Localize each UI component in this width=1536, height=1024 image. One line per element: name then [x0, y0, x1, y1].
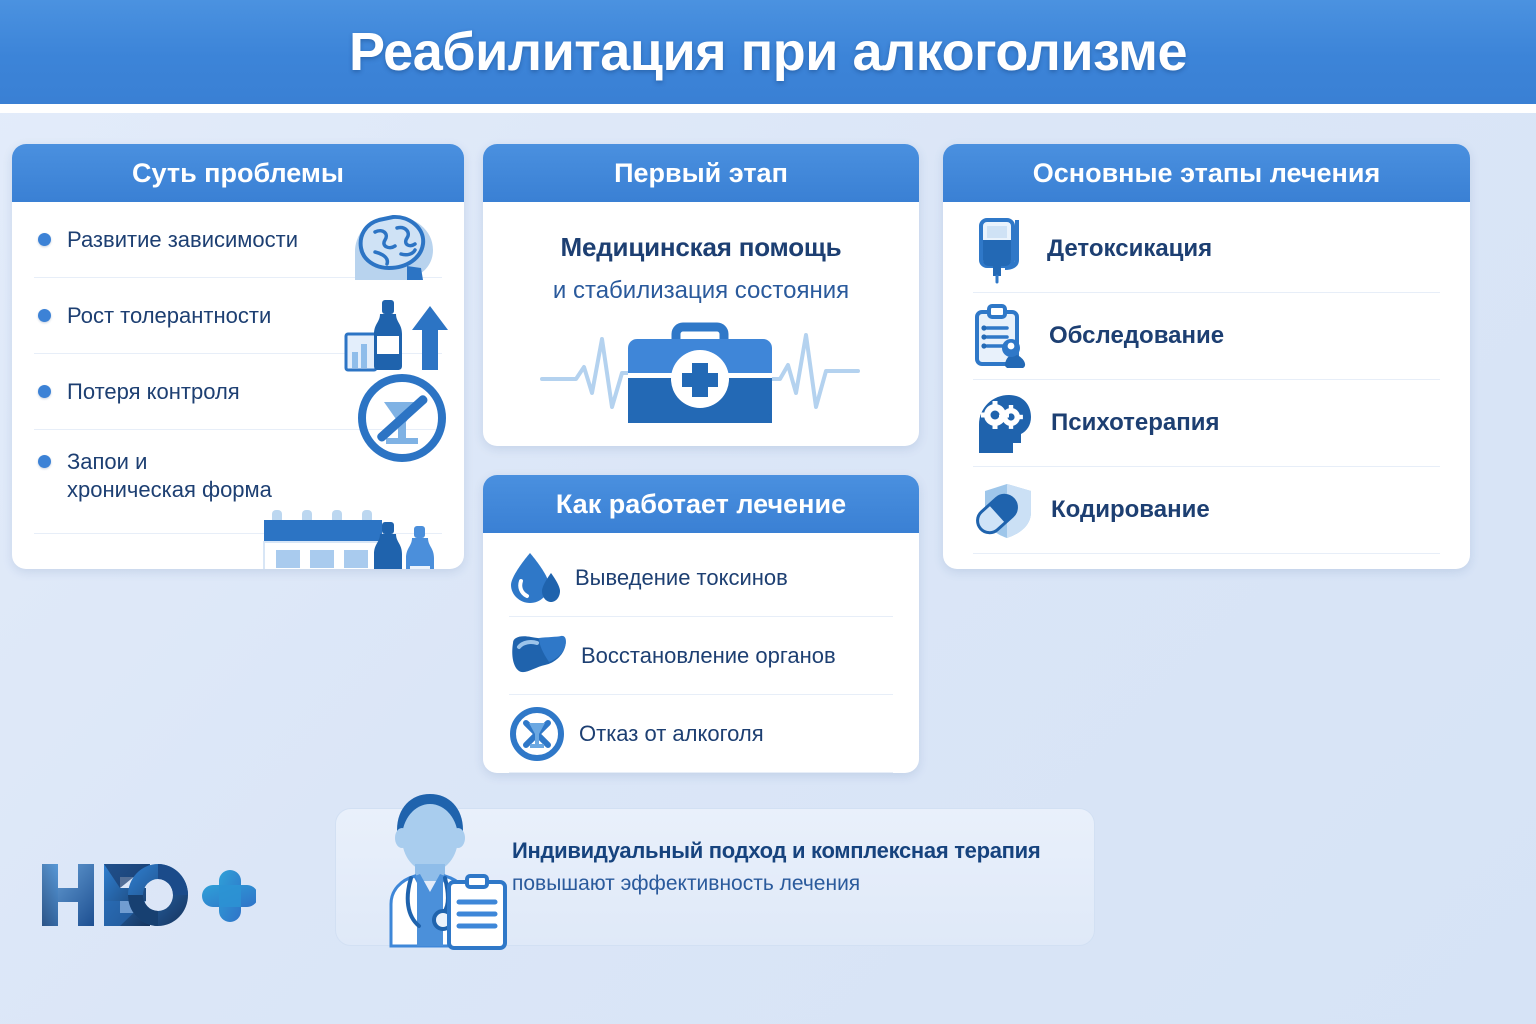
card-first-stage-body: Медицинская помощь и стабилизация состоя…: [483, 232, 919, 429]
stage-label-2: Обследование: [1049, 322, 1224, 350]
doctor-clipboard-icon: [345, 786, 515, 951]
no-alcohol-glass-icon: [356, 372, 448, 464]
header-divider: [0, 104, 1536, 113]
card-problem-title: Суть проблемы: [12, 144, 464, 202]
list-item[interactable]: Восстановление органов: [509, 617, 893, 695]
clipboard-checkup-icon: [973, 304, 1031, 368]
first-stage-line2: и стабилизация состояния: [483, 277, 919, 305]
how-label-1: Выведение токсинов: [575, 565, 788, 591]
card-first-stage: Первый этап Медицинская помощь и стабили…: [483, 144, 919, 446]
first-stage-icon-wrap: [483, 321, 919, 429]
card-how-it-works-title: Как работает лечение: [483, 475, 919, 533]
stage-label-4: Кодирование: [1051, 496, 1210, 524]
card-main-stages-body: Детоксикация Обследование: [943, 202, 1470, 554]
bullet-icon: [38, 385, 51, 398]
how-label-3: Отказ от алкоголя: [579, 721, 764, 747]
first-aid-kit-ecg-icon: [536, 321, 866, 429]
no-alcohol-icon: [509, 706, 565, 762]
header-banner: Реабилитация при алкоголизме: [0, 0, 1536, 104]
stage-label-3: Психотерапия: [1051, 409, 1220, 437]
problem-label-3: Потеря контроля: [67, 378, 240, 406]
brain-head-icon: [345, 210, 449, 282]
card-main-stages: Основные этапы лечения Детоксикация: [943, 144, 1470, 569]
note-line2: повышают эффективность лечения: [512, 872, 1072, 896]
head-gears-icon: [973, 391, 1033, 455]
bullet-icon: [38, 309, 51, 322]
problem-label-1: Развитие зависимости: [67, 226, 298, 254]
card-how-it-works-body: Выведение токсинов Восстановление органо…: [483, 533, 919, 773]
iv-drip-icon: [973, 214, 1029, 284]
card-problem-essence: Суть проблемы Развитие зависимости Рост …: [12, 144, 464, 569]
neo-plus-logo: [36, 856, 256, 934]
liver-icon: [509, 633, 567, 679]
stage-label-1: Детоксикация: [1047, 235, 1212, 263]
card-first-stage-title: Первый этап: [483, 144, 919, 202]
how-it-works-list: Выведение токсинов Восстановление органо…: [483, 533, 919, 773]
first-stage-line1: Медицинская помощь: [483, 232, 919, 263]
note-text: Индивидуальный подход и комплексная тера…: [512, 838, 1072, 896]
water-drop-icon: [509, 551, 561, 605]
how-label-2: Восстановление органов: [581, 643, 836, 669]
bullet-icon: [38, 455, 51, 468]
list-item[interactable]: Обследование: [973, 293, 1440, 380]
card-problem-body: Развитие зависимости Рост толерантности …: [12, 202, 464, 534]
pill-shield-icon: [973, 480, 1033, 540]
list-item[interactable]: Детоксикация: [973, 206, 1440, 293]
card-how-it-works: Как работает лечение Выведение токсинов …: [483, 475, 919, 773]
calendar-bottles-icon: [258, 502, 454, 569]
list-item[interactable]: Психотерапия: [973, 380, 1440, 467]
list-item[interactable]: Отказ от алкоголя: [509, 695, 893, 773]
problem-label-2: Рост толерантности: [67, 302, 271, 330]
bottle-up-arrow-icon: [342, 296, 452, 376]
list-item[interactable]: Выведение токсинов: [509, 539, 893, 617]
main-stages-list: Детоксикация Обследование: [943, 202, 1470, 554]
note-line1: Индивидуальный подход и комплексная тера…: [512, 838, 1072, 864]
bullet-icon: [38, 233, 51, 246]
page-title: Реабилитация при алкоголизме: [349, 21, 1187, 83]
card-main-stages-title: Основные этапы лечения: [943, 144, 1470, 202]
list-item[interactable]: Кодирование: [973, 467, 1440, 554]
problem-label-4: Запои и хроническая форма: [67, 448, 272, 503]
